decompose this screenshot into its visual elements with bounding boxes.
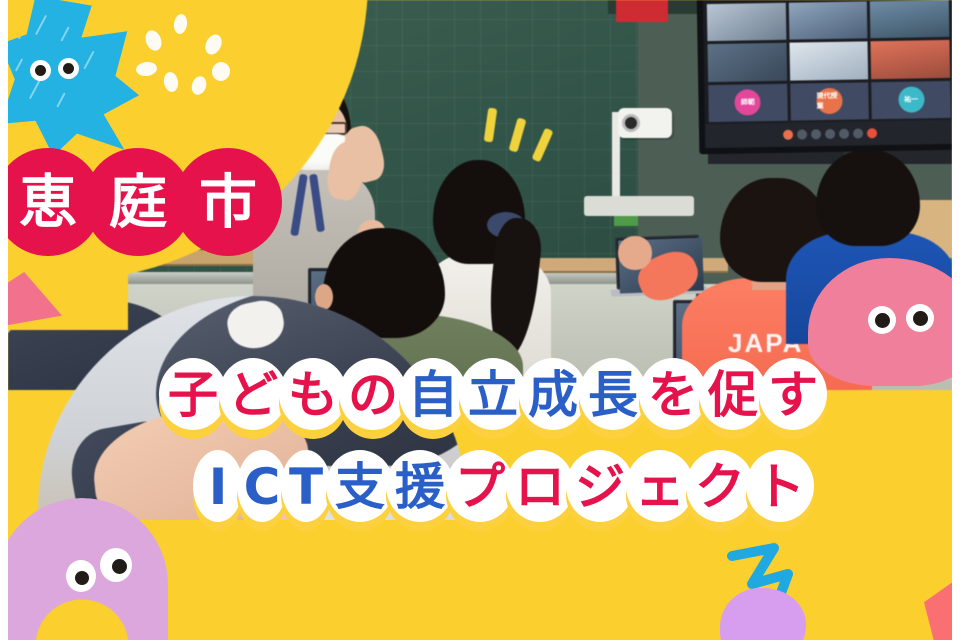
participant-avatar: 師範 <box>735 90 761 116</box>
student-hair <box>816 150 920 246</box>
video-tile <box>707 3 786 42</box>
title-char-glyph: ク <box>695 462 745 512</box>
student-hand <box>618 236 652 270</box>
title-char-glyph: も <box>288 370 338 420</box>
title-char-glyph: 自 <box>408 370 458 420</box>
badge-char: 恵 <box>19 173 77 231</box>
title-char-glyph: ジ <box>575 462 625 512</box>
title-char-glyph: T <box>289 462 323 512</box>
participants-icon <box>825 129 835 139</box>
camera-lens-icon <box>622 114 640 132</box>
more-options-icon <box>853 128 863 138</box>
video-tile <box>870 0 949 39</box>
badge-char: 庭 <box>109 173 167 231</box>
eye-icon <box>58 58 79 79</box>
eye-icon <box>66 560 96 592</box>
title-line-2: ICT支援プロジェクト <box>44 448 952 526</box>
banner-root: JAPA <box>0 0 960 640</box>
title-char-glyph: 促 <box>708 370 758 420</box>
title-char-glyph: ェ <box>635 462 685 512</box>
title-char-glyph: 支 <box>335 462 385 512</box>
title-char-glyph: 成 <box>528 370 578 420</box>
title-char-glyph: の <box>348 370 398 420</box>
camera-base <box>584 196 694 216</box>
wall-poster <box>616 0 668 22</box>
title-char-glyph: を <box>648 370 698 420</box>
eye-icon <box>868 306 896 334</box>
city-badge: 恵 庭 市 <box>8 148 264 256</box>
participant-avatar: 現代授業 <box>816 88 842 114</box>
chat-icon <box>839 129 849 139</box>
video-tile <box>788 1 867 40</box>
video-grid: 師範 現代授業 祐一 <box>707 0 951 122</box>
eye-icon <box>100 548 132 582</box>
title-char-glyph: 立 <box>468 370 518 420</box>
title-line-1: 子どもの自立成長を促す <box>22 356 952 434</box>
title-char: ト <box>744 448 816 526</box>
participant-avatar: 祐一 <box>898 87 924 113</box>
title-char-glyph: C <box>244 462 281 512</box>
video-tile <box>708 43 787 82</box>
title-char-glyph: す <box>768 370 818 420</box>
banner-canvas: JAPA <box>8 0 952 640</box>
title-char-glyph: ト <box>755 462 805 512</box>
video-tile <box>871 40 950 79</box>
camera-icon <box>797 129 807 139</box>
badge-circle: 市 <box>174 148 282 256</box>
video-tile-avatar: 師範 <box>708 83 787 122</box>
video-tile-avatar: 祐一 <box>872 81 951 120</box>
eye-icon <box>30 60 51 81</box>
microphone-icon <box>783 130 793 140</box>
eye-icon <box>906 304 934 332</box>
title-char-glyph: ロ <box>515 462 565 512</box>
title-char-glyph: 子 <box>168 370 218 420</box>
title-char-glyph: 長 <box>588 370 638 420</box>
banner-title: 子どもの自立成長を促す ICT支援プロジェクト <box>8 356 952 526</box>
sparkle-dots <box>136 14 240 98</box>
video-tile-avatar: 現代授業 <box>790 82 869 121</box>
badge-char: 市 <box>199 173 257 231</box>
title-char-glyph: プ <box>455 462 505 512</box>
video-conference-display: 師範 現代授業 祐一 <box>697 0 952 154</box>
title-char-glyph: ど <box>228 370 278 420</box>
share-screen-icon <box>811 129 821 139</box>
title-char: す <box>757 356 829 434</box>
video-call-toolbar <box>705 120 952 148</box>
title-char-glyph: 援 <box>395 462 445 512</box>
end-call-icon <box>867 128 877 138</box>
video-tile <box>789 42 868 81</box>
title-char-glyph: I <box>209 462 228 512</box>
